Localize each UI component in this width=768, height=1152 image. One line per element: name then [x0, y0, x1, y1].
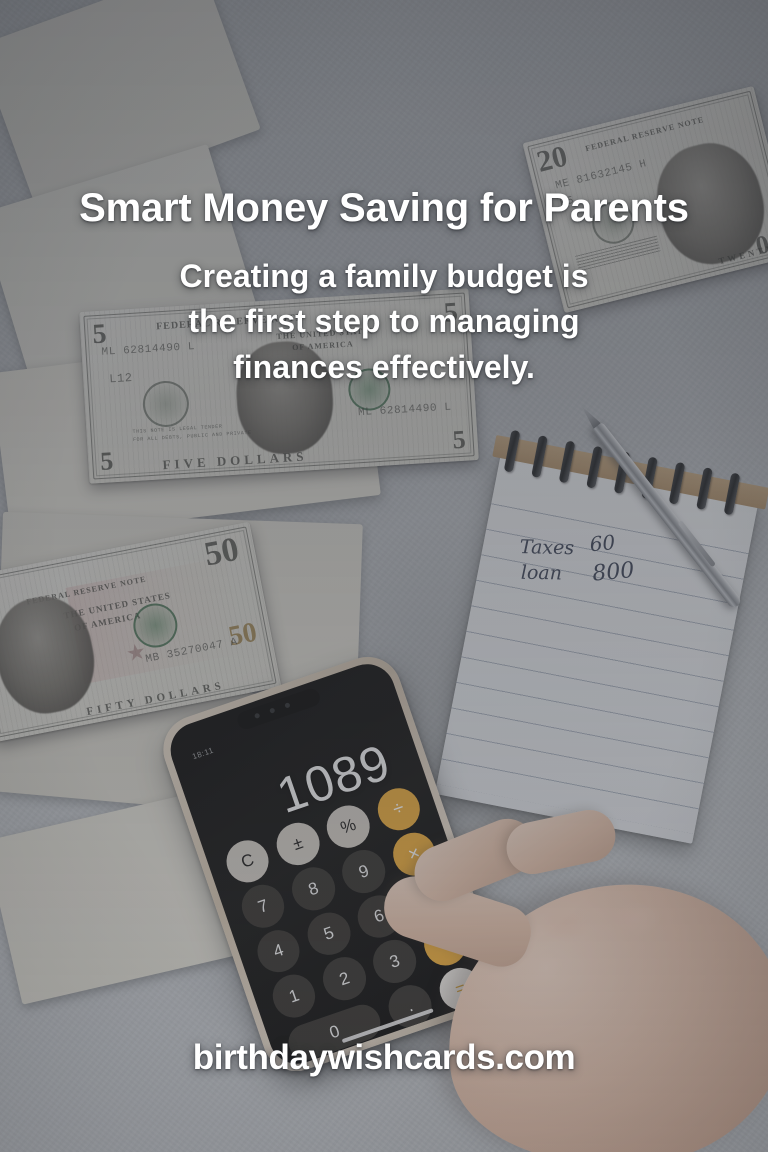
- site-watermark: birthdaywishcards.com: [0, 1038, 768, 1078]
- page-subtitle: Creating a family budget is the first st…: [60, 254, 708, 390]
- subtitle-line-2: the first step to managing: [60, 299, 708, 344]
- page-title: Smart Money Saving for Parents: [0, 186, 768, 230]
- pin-graphic-canvas: 20 20 FEDERAL RESERVE NOTE ME 81632145 H…: [0, 0, 768, 1152]
- photo-vignette: [0, 0, 768, 1152]
- subtitle-line-3: finances effectively.: [60, 345, 708, 390]
- subtitle-line-1: Creating a family budget is: [60, 254, 708, 299]
